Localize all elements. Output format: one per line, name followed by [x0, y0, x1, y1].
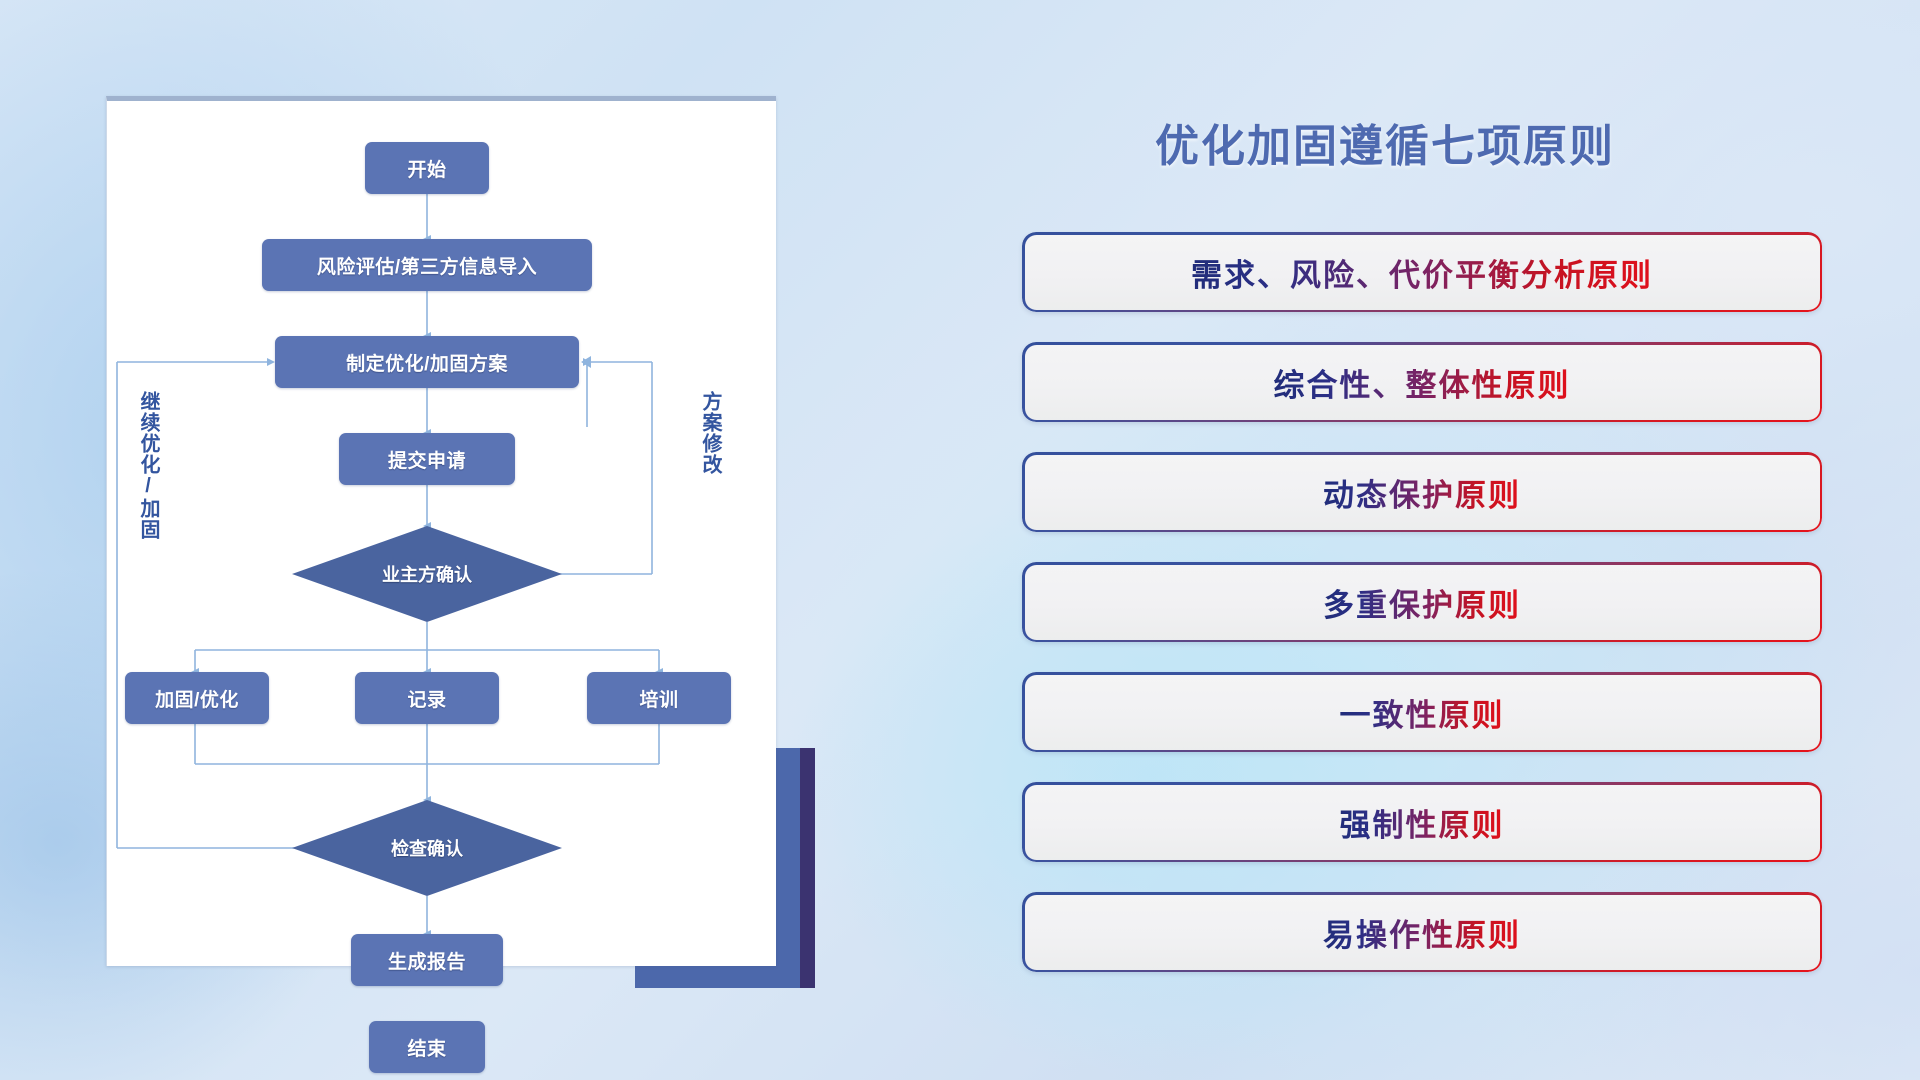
principle-card-2[interactable]: 综合性、整体性原则: [1022, 342, 1822, 422]
flow-node-end[interactable]: 结束: [369, 1021, 485, 1073]
principle-card-7[interactable]: 易操作性原则: [1022, 892, 1822, 972]
flowchart-diagram: 开始 风险评估/第三方信息导入 制定优化/加固方案 提交申请 业主方确认 加固/…: [107, 101, 776, 966]
principle-card-6[interactable]: 强制性原则: [1022, 782, 1822, 862]
principles-list: 需求、风险、代价平衡分析原则 综合性、整体性原则 动态保护原则 多重保护原则 一…: [1022, 232, 1822, 1002]
flow-node-plan[interactable]: 制定优化/加固方案: [275, 336, 579, 388]
flow-node-training[interactable]: 培训: [587, 672, 731, 724]
edge-label-plan-revision: 方案修改: [699, 391, 720, 475]
flow-node-record[interactable]: 记录: [355, 672, 499, 724]
edge-label-continue-optimize: 继续优化/加固: [137, 391, 158, 540]
principle-card-3[interactable]: 动态保护原则: [1022, 452, 1822, 532]
flow-node-submit[interactable]: 提交申请: [339, 433, 515, 485]
flow-node-reinforce[interactable]: 加固/优化: [125, 672, 269, 724]
principle-card-4[interactable]: 多重保护原则: [1022, 562, 1822, 642]
principle-label: 多重保护原则: [1323, 580, 1521, 625]
flow-node-owner-approval[interactable]: 业主方确认: [292, 526, 562, 622]
flowchart-card: 开始 风险评估/第三方信息导入 制定优化/加固方案 提交申请 业主方确认 加固/…: [106, 96, 776, 966]
principle-card-1[interactable]: 需求、风险、代价平衡分析原则: [1022, 232, 1822, 312]
accent-block-shadow: [800, 748, 815, 988]
arrowhead-plan-right: [581, 356, 591, 368]
principle-label: 一致性原则: [1340, 690, 1505, 735]
flow-node-inspection[interactable]: 检查确认: [292, 800, 562, 896]
principles-panel: 优化加固遵循七项原则 需求、风险、代价平衡分析原则 综合性、整体性原则 动态保护…: [1000, 0, 1920, 1080]
principle-label: 强制性原则: [1340, 800, 1505, 845]
principle-label: 易操作性原则: [1323, 910, 1521, 955]
principle-label: 综合性、整体性原则: [1274, 360, 1571, 405]
page-title: 优化加固遵循七项原则: [1155, 110, 1615, 174]
flowchart-panel: 开始 风险评估/第三方信息导入 制定优化/加固方案 提交申请 业主方确认 加固/…: [0, 0, 880, 1080]
principle-card-5[interactable]: 一致性原则: [1022, 672, 1822, 752]
principle-label: 需求、风险、代价平衡分析原则: [1191, 250, 1653, 295]
principle-label: 动态保护原则: [1323, 470, 1521, 515]
flow-node-start[interactable]: 开始: [365, 142, 489, 194]
flow-node-risk-assessment[interactable]: 风险评估/第三方信息导入: [262, 239, 592, 291]
flow-node-report[interactable]: 生成报告: [351, 934, 503, 986]
